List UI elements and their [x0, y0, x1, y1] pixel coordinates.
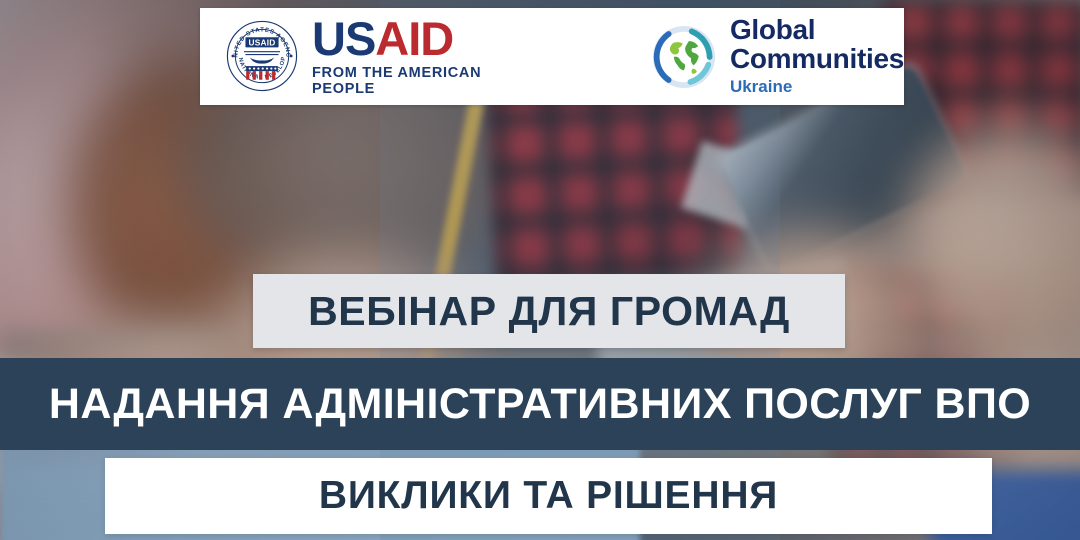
- headline-band-2-text: НАДАННЯ АДМІНІСТРАТИВНИХ ПОСЛУГ ВПО: [49, 380, 1031, 429]
- usaid-wordmark-us: US: [312, 12, 375, 65]
- logo-bar: UNITED STATES AGENCY INTERNATIONAL DEVEL…: [200, 8, 904, 105]
- webinar-poster: UNITED STATES AGENCY INTERNATIONAL DEVEL…: [0, 0, 1080, 540]
- headline-band-2: НАДАННЯ АДМІНІСТРАТИВНИХ ПОСЛУГ ВПО: [0, 358, 1080, 450]
- headline-band-3: ВИКЛИКИ ТА РІШЕННЯ: [105, 458, 992, 534]
- headline-band-1: ВЕБІНАР ДЛЯ ГРОМАД: [253, 274, 845, 348]
- usaid-tagline: FROM THE AMERICAN PEOPLE: [312, 65, 548, 97]
- gc-country: Ukraine: [730, 77, 904, 97]
- usaid-wordmark-aid: AID: [375, 12, 453, 65]
- usaid-seal-icon: UNITED STATES AGENCY INTERNATIONAL DEVEL…: [226, 20, 298, 92]
- gc-name-line1: Global: [730, 16, 904, 45]
- usaid-wordmark-text: USAID: [312, 16, 548, 61]
- usaid-logo: UNITED STATES AGENCY INTERNATIONAL DEVEL…: [226, 16, 548, 96]
- usaid-wordmark: USAID FROM THE AMERICAN PEOPLE: [312, 16, 548, 96]
- global-communities-wordmark: Global Communities Ukraine: [730, 16, 904, 96]
- global-communities-logo: Global Communities Ukraine: [652, 16, 904, 96]
- globe-icon: [652, 25, 716, 89]
- headline-band-3-text: ВИКЛИКИ ТА РІШЕННЯ: [319, 474, 778, 518]
- svg-text:USAID: USAID: [248, 38, 275, 48]
- headline-band-1-text: ВЕБІНАР ДЛЯ ГРОМАД: [308, 288, 790, 335]
- gc-name-line2: Communities: [730, 45, 904, 74]
